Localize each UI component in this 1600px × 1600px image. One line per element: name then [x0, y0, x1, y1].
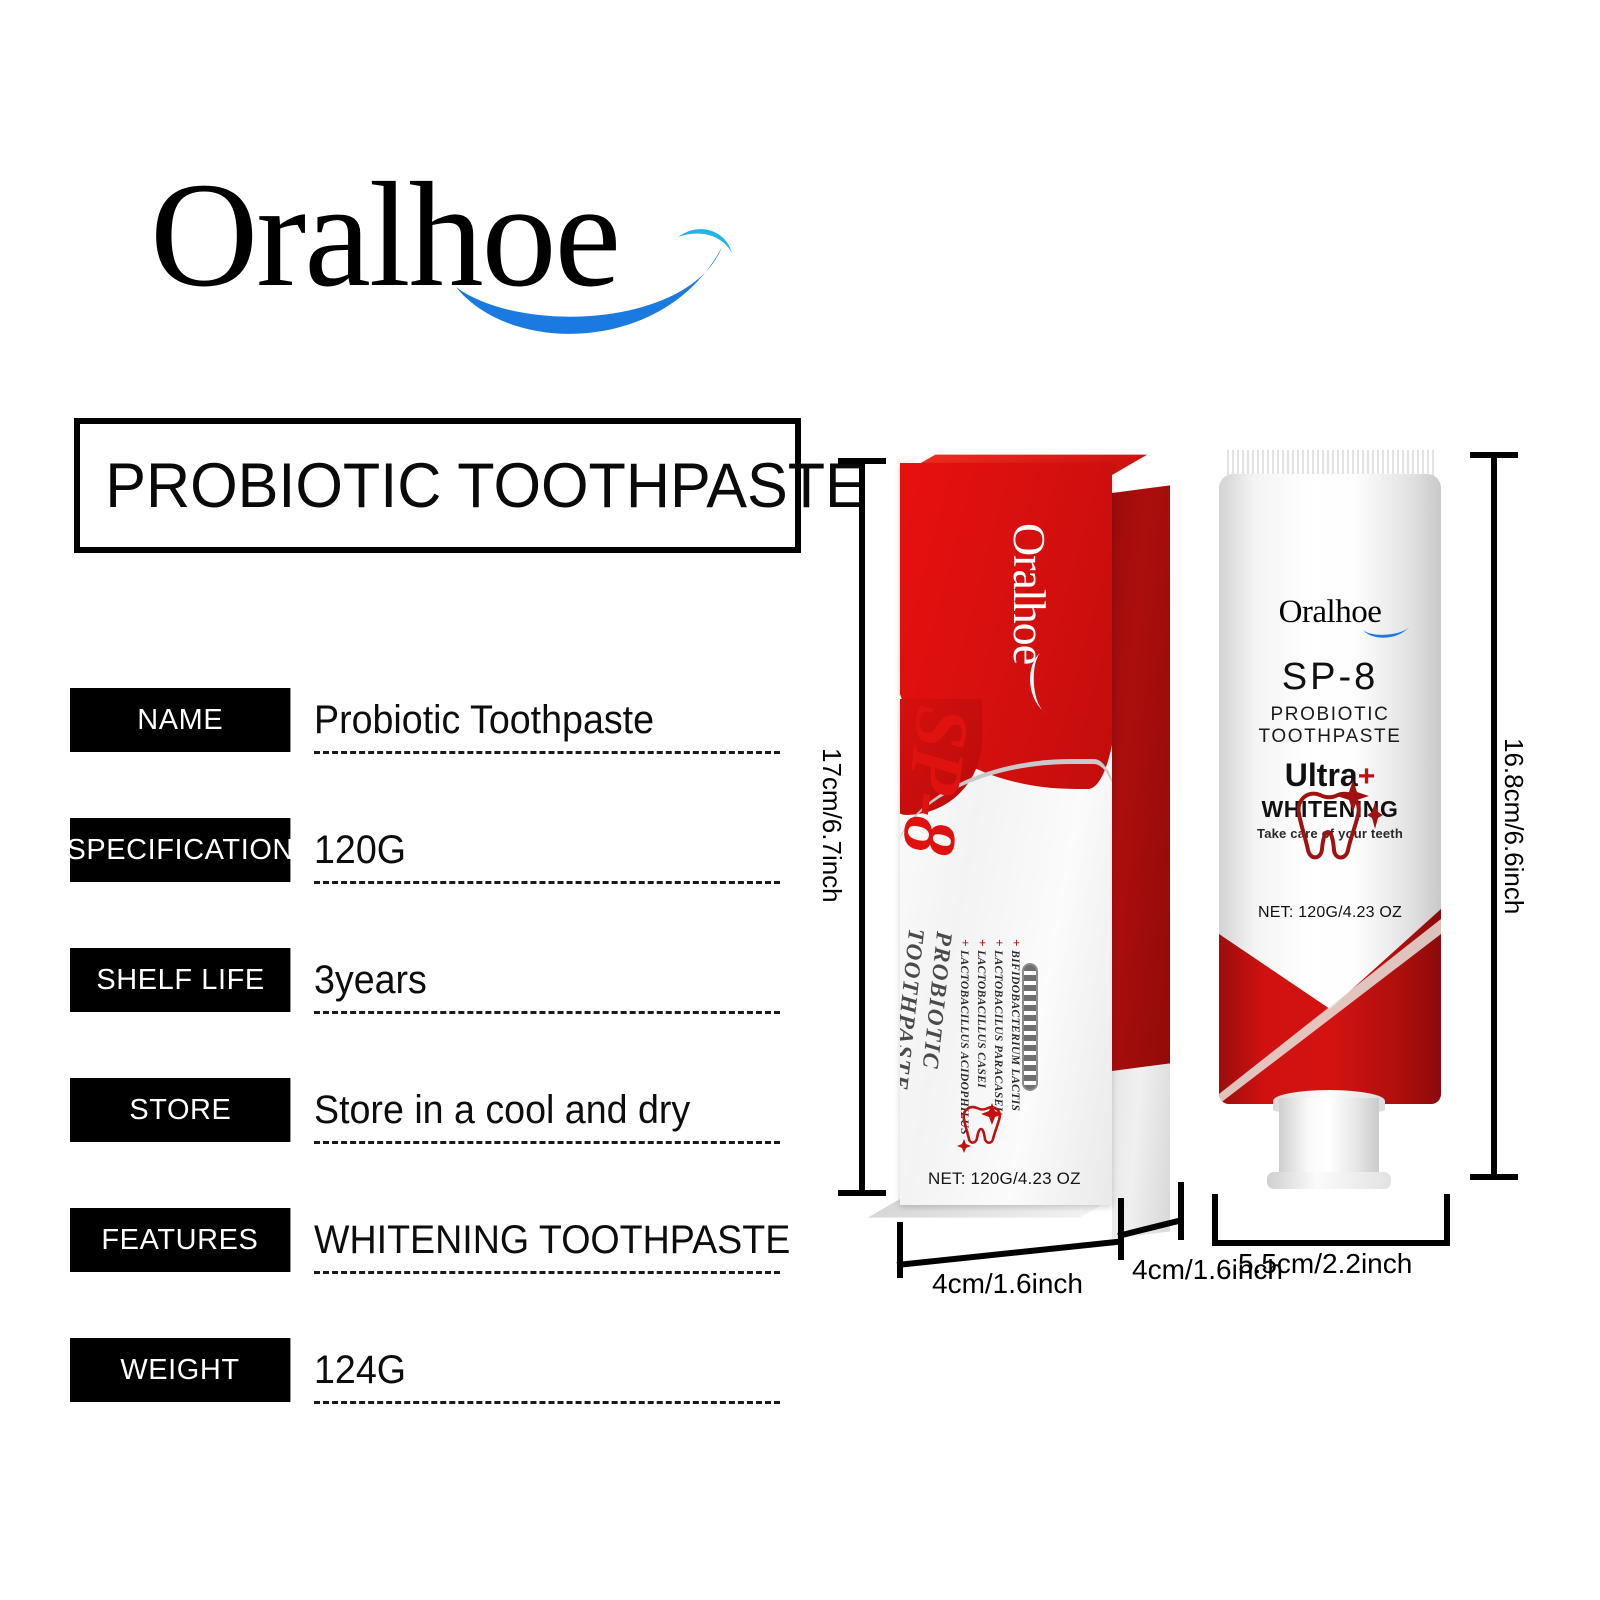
spec-label-features: FEATURES — [70, 1208, 290, 1272]
tube-width-label: 5.5cm/2.2inch — [1238, 1248, 1412, 1280]
spec-row-specification: SPECIFICATION 120G — [70, 818, 780, 948]
tube-width-left-tick — [1212, 1194, 1218, 1246]
box-brand-logo: Oralhoe — [1003, 523, 1056, 664]
brand-swoosh-icon — [450, 195, 740, 345]
spec-value-wrap-weight: 124G — [314, 1338, 780, 1404]
tube-product-code: SP-8 — [1219, 656, 1441, 699]
spec-row-weight: WEIGHT 124G — [70, 1338, 780, 1468]
tube-red-chevron — [1219, 854, 1441, 1104]
spec-label-specification: SPECIFICATION — [70, 818, 290, 882]
box-height-bottom-cap — [838, 1190, 886, 1196]
tube-tooth-sparkle-icon — [1279, 774, 1383, 874]
box-product-code: SP-8 — [900, 702, 986, 858]
box-height-label: 17cm/6.7inch — [816, 748, 847, 903]
spec-value-wrap-features: WHITENING TOOTHPASTE — [314, 1208, 780, 1274]
tube-cap — [1279, 1098, 1379, 1180]
box-brand-swoosh-icon — [1024, 651, 1050, 717]
box-front-face: Oralhoe SP-8 PROBIOTIC TOOTHPASTE + BIFI… — [900, 463, 1112, 1205]
tube-cap-base — [1267, 1172, 1391, 1189]
product-tube: Oralhoe SP-8 PROBIOTIC TOOTHPASTE Ultra+… — [1215, 450, 1445, 1190]
product-box-carton: Oralhoe SP-8 PROBIOTIC TOOTHPASTE + BIFI… — [900, 455, 1170, 1215]
specification-table: NAME Probiotic Toothpaste SPECIFICATION … — [70, 688, 780, 1468]
spec-row-features: FEATURES WHITENING TOOTHPASTE — [70, 1208, 780, 1338]
box-net-weight: NET: 120G/4.23 OZ — [928, 1169, 1081, 1189]
tube-height-label: 16.8cm/6.6inch — [1498, 738, 1529, 914]
tube-height-bottom-cap — [1470, 1174, 1518, 1180]
spec-value-wrap-name: Probiotic Toothpaste — [314, 688, 780, 754]
spec-value-specification: 120G — [314, 830, 406, 870]
spec-label-weight: WEIGHT — [70, 1338, 290, 1402]
spec-value-wrap-store: Store in a cool and dry — [314, 1078, 780, 1144]
spec-label-shelf-life: SHELF LIFE — [70, 948, 290, 1012]
box-height-line — [859, 458, 865, 1196]
tube-net-weight: NET: 120G/4.23 OZ — [1219, 904, 1441, 922]
tube-height-line — [1491, 452, 1497, 1180]
spec-value-shelf-life: 3years — [314, 960, 427, 1000]
tube-body: Oralhoe SP-8 PROBIOTIC TOOTHPASTE Ultra+… — [1219, 474, 1441, 1104]
brand-logo: Oralhoe — [150, 160, 750, 350]
spec-row-name: NAME Probiotic Toothpaste — [70, 688, 780, 818]
tube-width-line — [1212, 1240, 1450, 1246]
box-product-name: PROBIOTIC TOOTHPASTE — [900, 927, 958, 1096]
tube-product-subtitle: PROBIOTIC TOOTHPASTE — [1219, 704, 1441, 748]
spec-value-features: WHITENING TOOTHPASTE — [314, 1220, 790, 1260]
spec-value-store: Store in a cool and dry — [314, 1090, 690, 1130]
spec-row-shelf-life: SHELF LIFE 3years — [70, 948, 780, 1078]
spec-value-name: Probiotic Toothpaste — [314, 700, 654, 740]
box-width-line — [897, 1239, 1120, 1268]
box-width-left-tick — [897, 1222, 903, 1278]
box-barcode-strip — [1022, 963, 1038, 1091]
page-title: PROBIOTIC TOOTHPASTE — [80, 450, 866, 522]
page-title-banner: PROBIOTIC TOOTHPASTE — [74, 418, 801, 553]
box-tooth-sparkle-icon — [952, 1099, 1010, 1155]
tube-width-right-tick — [1444, 1194, 1450, 1246]
tube-crimp-seal — [1224, 450, 1436, 476]
spec-value-weight: 124G — [314, 1350, 406, 1390]
box-depth-right-tick — [1178, 1182, 1184, 1240]
spec-label-name: NAME — [70, 688, 290, 752]
spec-value-wrap-shelf-life: 3years — [314, 948, 780, 1014]
spec-label-store: STORE — [70, 1078, 290, 1142]
tube-brand-swoosh-icon — [1361, 622, 1413, 642]
spec-value-wrap-specification: 120G — [314, 818, 780, 884]
box-width-right-tick — [1118, 1198, 1124, 1260]
box-width-label: 4cm/1.6inch — [932, 1268, 1083, 1300]
spec-row-store: STORE Store in a cool and dry — [70, 1078, 780, 1208]
